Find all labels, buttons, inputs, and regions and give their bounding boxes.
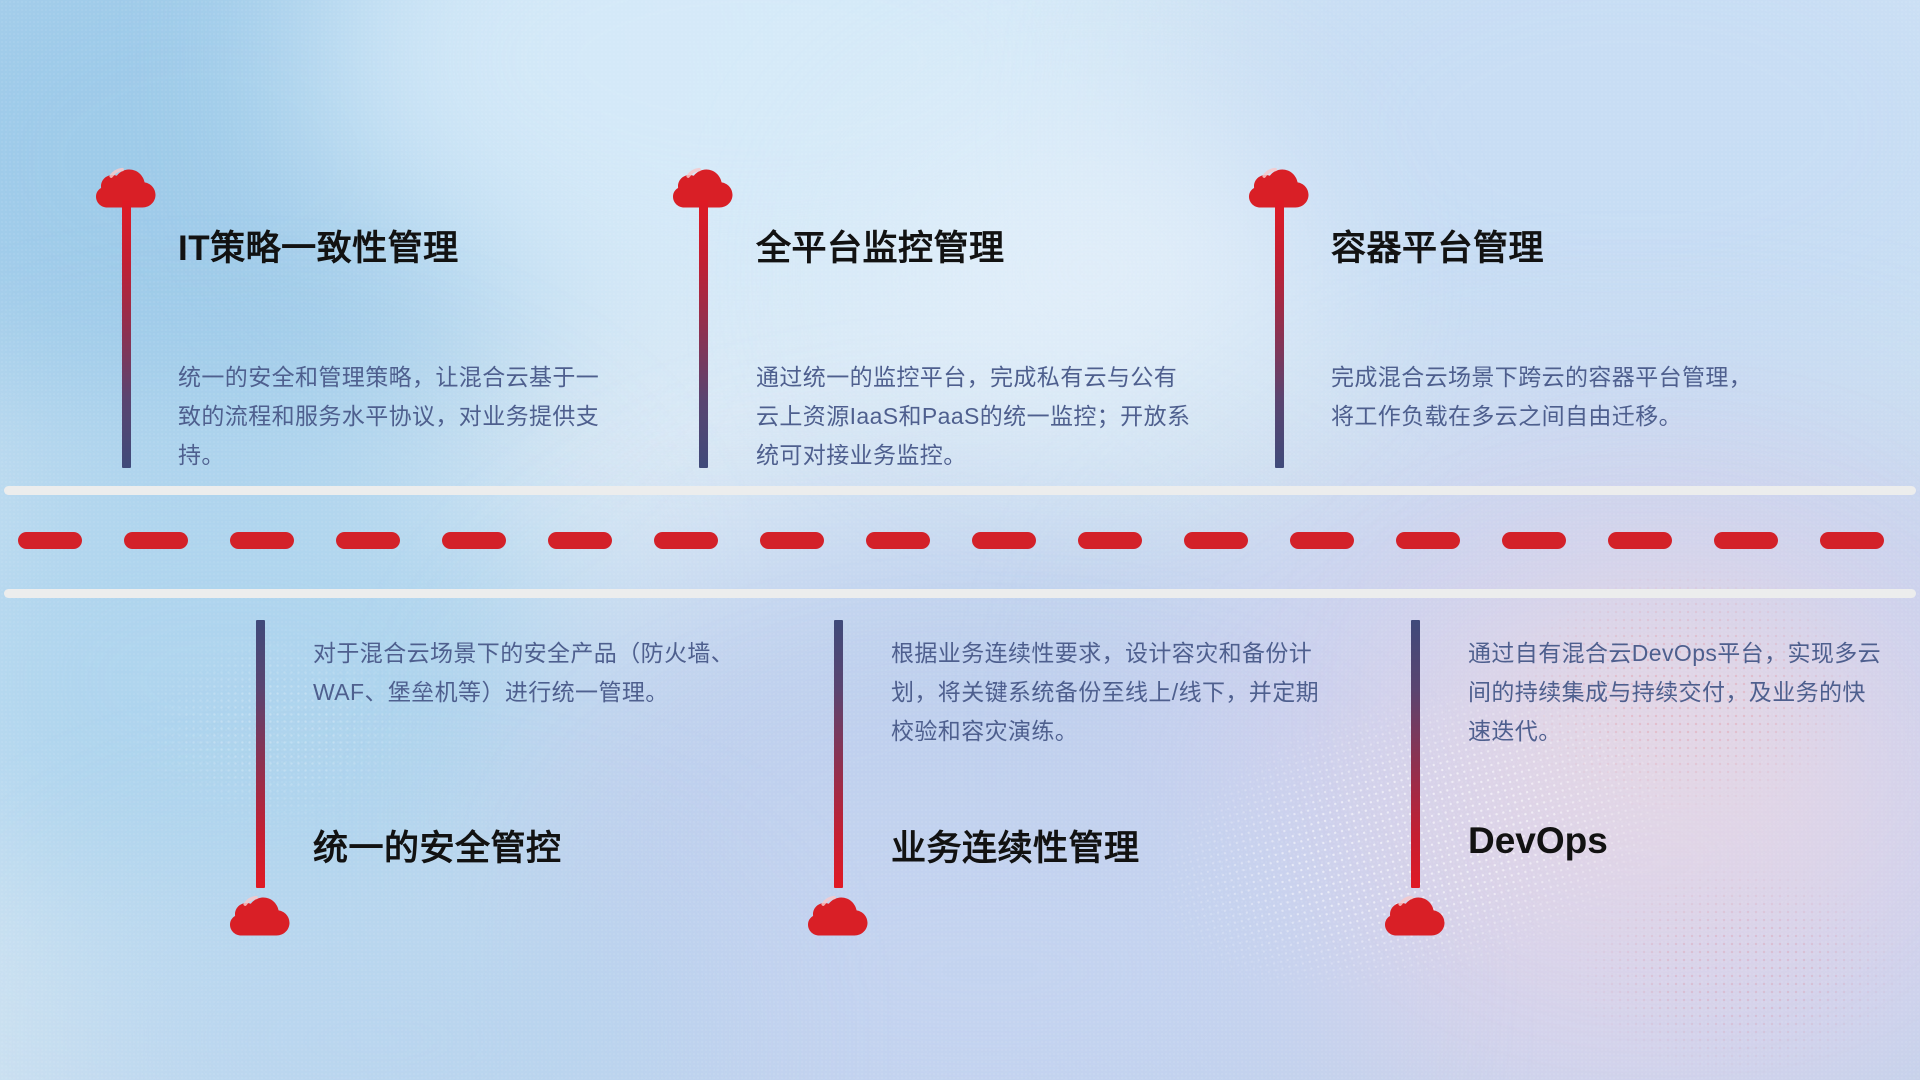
divider-dash — [1396, 532, 1460, 549]
divider-dash — [1290, 532, 1354, 549]
divider-line-bottom — [4, 589, 1916, 598]
divider-dash — [18, 532, 82, 549]
bottom-column-1-title: 统一的安全管控 — [313, 820, 562, 871]
bottom-column-2-body: 根据业务连续性要求，设计容灾和备份计划，将关键系统备份至线上/线下，并定期校验和… — [891, 634, 1321, 751]
divider-dash — [1078, 532, 1142, 549]
divider-dash — [1502, 532, 1566, 549]
divider-dash — [1820, 532, 1884, 549]
bottom-column-2-title: 业务连续性管理 — [891, 820, 1140, 871]
divider-dash-track — [0, 532, 1920, 549]
divider-dash — [230, 532, 294, 549]
divider-dash — [654, 532, 718, 549]
bottom-column-3-body: 通过自有混合云DevOps平台，实现多云间的持续集成与持续交付，及业务的快速迭代… — [1468, 634, 1888, 751]
connector-stem — [122, 200, 131, 468]
bottom-column-1-body: 对于混合云场景下的安全产品（防火墙、WAF、堡垒机等）进行统一管理。 — [313, 634, 743, 712]
divider-dash — [442, 532, 506, 549]
top-column-1-title: IT策略一致性管理 — [178, 220, 459, 271]
divider-dash — [1714, 532, 1778, 549]
cloud-icon — [808, 888, 870, 936]
divider-dash — [124, 532, 188, 549]
dashed-road-divider — [0, 486, 1920, 598]
divider-dash — [336, 532, 400, 549]
divider-dash — [866, 532, 930, 549]
top-column-1-body: 统一的安全和管理策略，让混合云基于一致的流程和服务水平协议，对业务提供支持。 — [178, 358, 608, 475]
divider-dash — [760, 532, 824, 549]
top-column-2-title: 全平台监控管理 — [756, 220, 1005, 271]
connector-stem — [1275, 200, 1284, 468]
cloud-icon — [1385, 888, 1447, 936]
connector-stem — [699, 200, 708, 468]
divider-dash — [548, 532, 612, 549]
connector-stem — [1411, 620, 1420, 888]
top-column-2-body: 通过统一的监控平台，完成私有云与公有云上资源IaaS和PaaS的统一监控；开放系… — [756, 358, 1194, 475]
divider-dash — [972, 532, 1036, 549]
divider-line-top — [4, 486, 1916, 495]
infographic-canvas: IT策略一致性管理 统一的安全和管理策略，让混合云基于一致的流程和服务水平协议，… — [0, 0, 1920, 1080]
connector-stem — [834, 620, 843, 888]
cloud-icon — [230, 888, 292, 936]
bottom-column-3-title: DevOps — [1468, 820, 1608, 862]
top-column-3-body: 完成混合云场景下跨云的容器平台管理，将工作负载在多云之间自由迁移。 — [1331, 358, 1769, 436]
divider-dash — [1184, 532, 1248, 549]
connector-stem — [256, 620, 265, 888]
top-column-3-title: 容器平台管理 — [1331, 220, 1544, 271]
divider-dash — [1608, 532, 1672, 549]
